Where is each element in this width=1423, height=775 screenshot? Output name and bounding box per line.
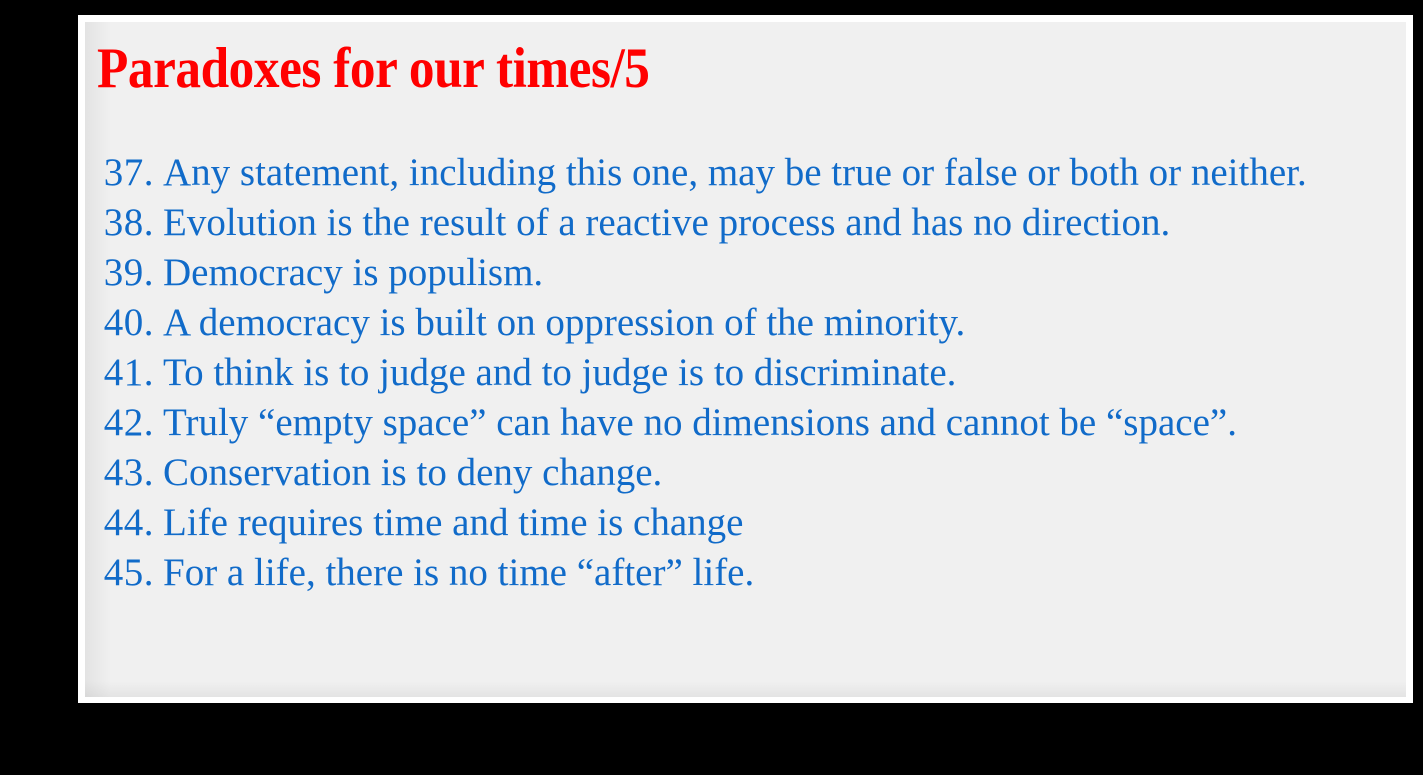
list-item: 45.For a life, there is no time “after” … [85, 548, 1396, 598]
page-title: Paradoxes for our times/5 [97, 36, 650, 102]
slide-content-area: Paradoxes for our times/5 37.Any stateme… [85, 22, 1406, 697]
list-item-number: 40. [85, 298, 163, 348]
list-item-text: For a life, there is no time “after” lif… [163, 548, 1370, 598]
list-item: 44.Life requires time and time is change [85, 498, 1396, 548]
list-item-text: To think is to judge and to judge is to … [163, 348, 1370, 398]
list-item-number: 42. [85, 398, 163, 448]
list-item-number: 37. [85, 148, 163, 198]
list-item-number: 43. [85, 448, 163, 498]
paradox-list: 37.Any statement, including this one, ma… [85, 148, 1396, 598]
list-item-text: Any statement, including this one, may b… [163, 148, 1370, 198]
list-item-text: Democracy is populism. [163, 248, 1370, 298]
list-item: 37.Any statement, including this one, ma… [85, 148, 1396, 198]
slide-root: Paradoxes for our times/5 37.Any stateme… [0, 0, 1423, 775]
list-item: 39.Democracy is populism. [85, 248, 1396, 298]
list-item: 38.Evolution is the result of a reactive… [85, 198, 1396, 248]
list-item-text: Life requires time and time is change [163, 498, 1370, 548]
list-item: 41.To think is to judge and to judge is … [85, 348, 1396, 398]
list-item-text: A democracy is built on oppression of th… [163, 298, 1370, 348]
list-item-text: Evolution is the result of a reactive pr… [163, 198, 1370, 248]
list-item: 43.Conservation is to deny change. [85, 448, 1396, 498]
list-item: 42.Truly “empty space” can have no dimen… [85, 398, 1396, 448]
list-item-number: 39. [85, 248, 163, 298]
list-item-number: 41. [85, 348, 163, 398]
list-item: 40.A democracy is built on oppression of… [85, 298, 1396, 348]
list-item-number: 38. [85, 198, 163, 248]
list-item-text: Conservation is to deny change. [163, 448, 1370, 498]
list-item-text: Truly “empty space” can have no dimensio… [163, 398, 1370, 448]
list-item-number: 44. [85, 498, 163, 548]
slide-card: Paradoxes for our times/5 37.Any stateme… [78, 15, 1413, 703]
list-item-number: 45. [85, 548, 163, 598]
